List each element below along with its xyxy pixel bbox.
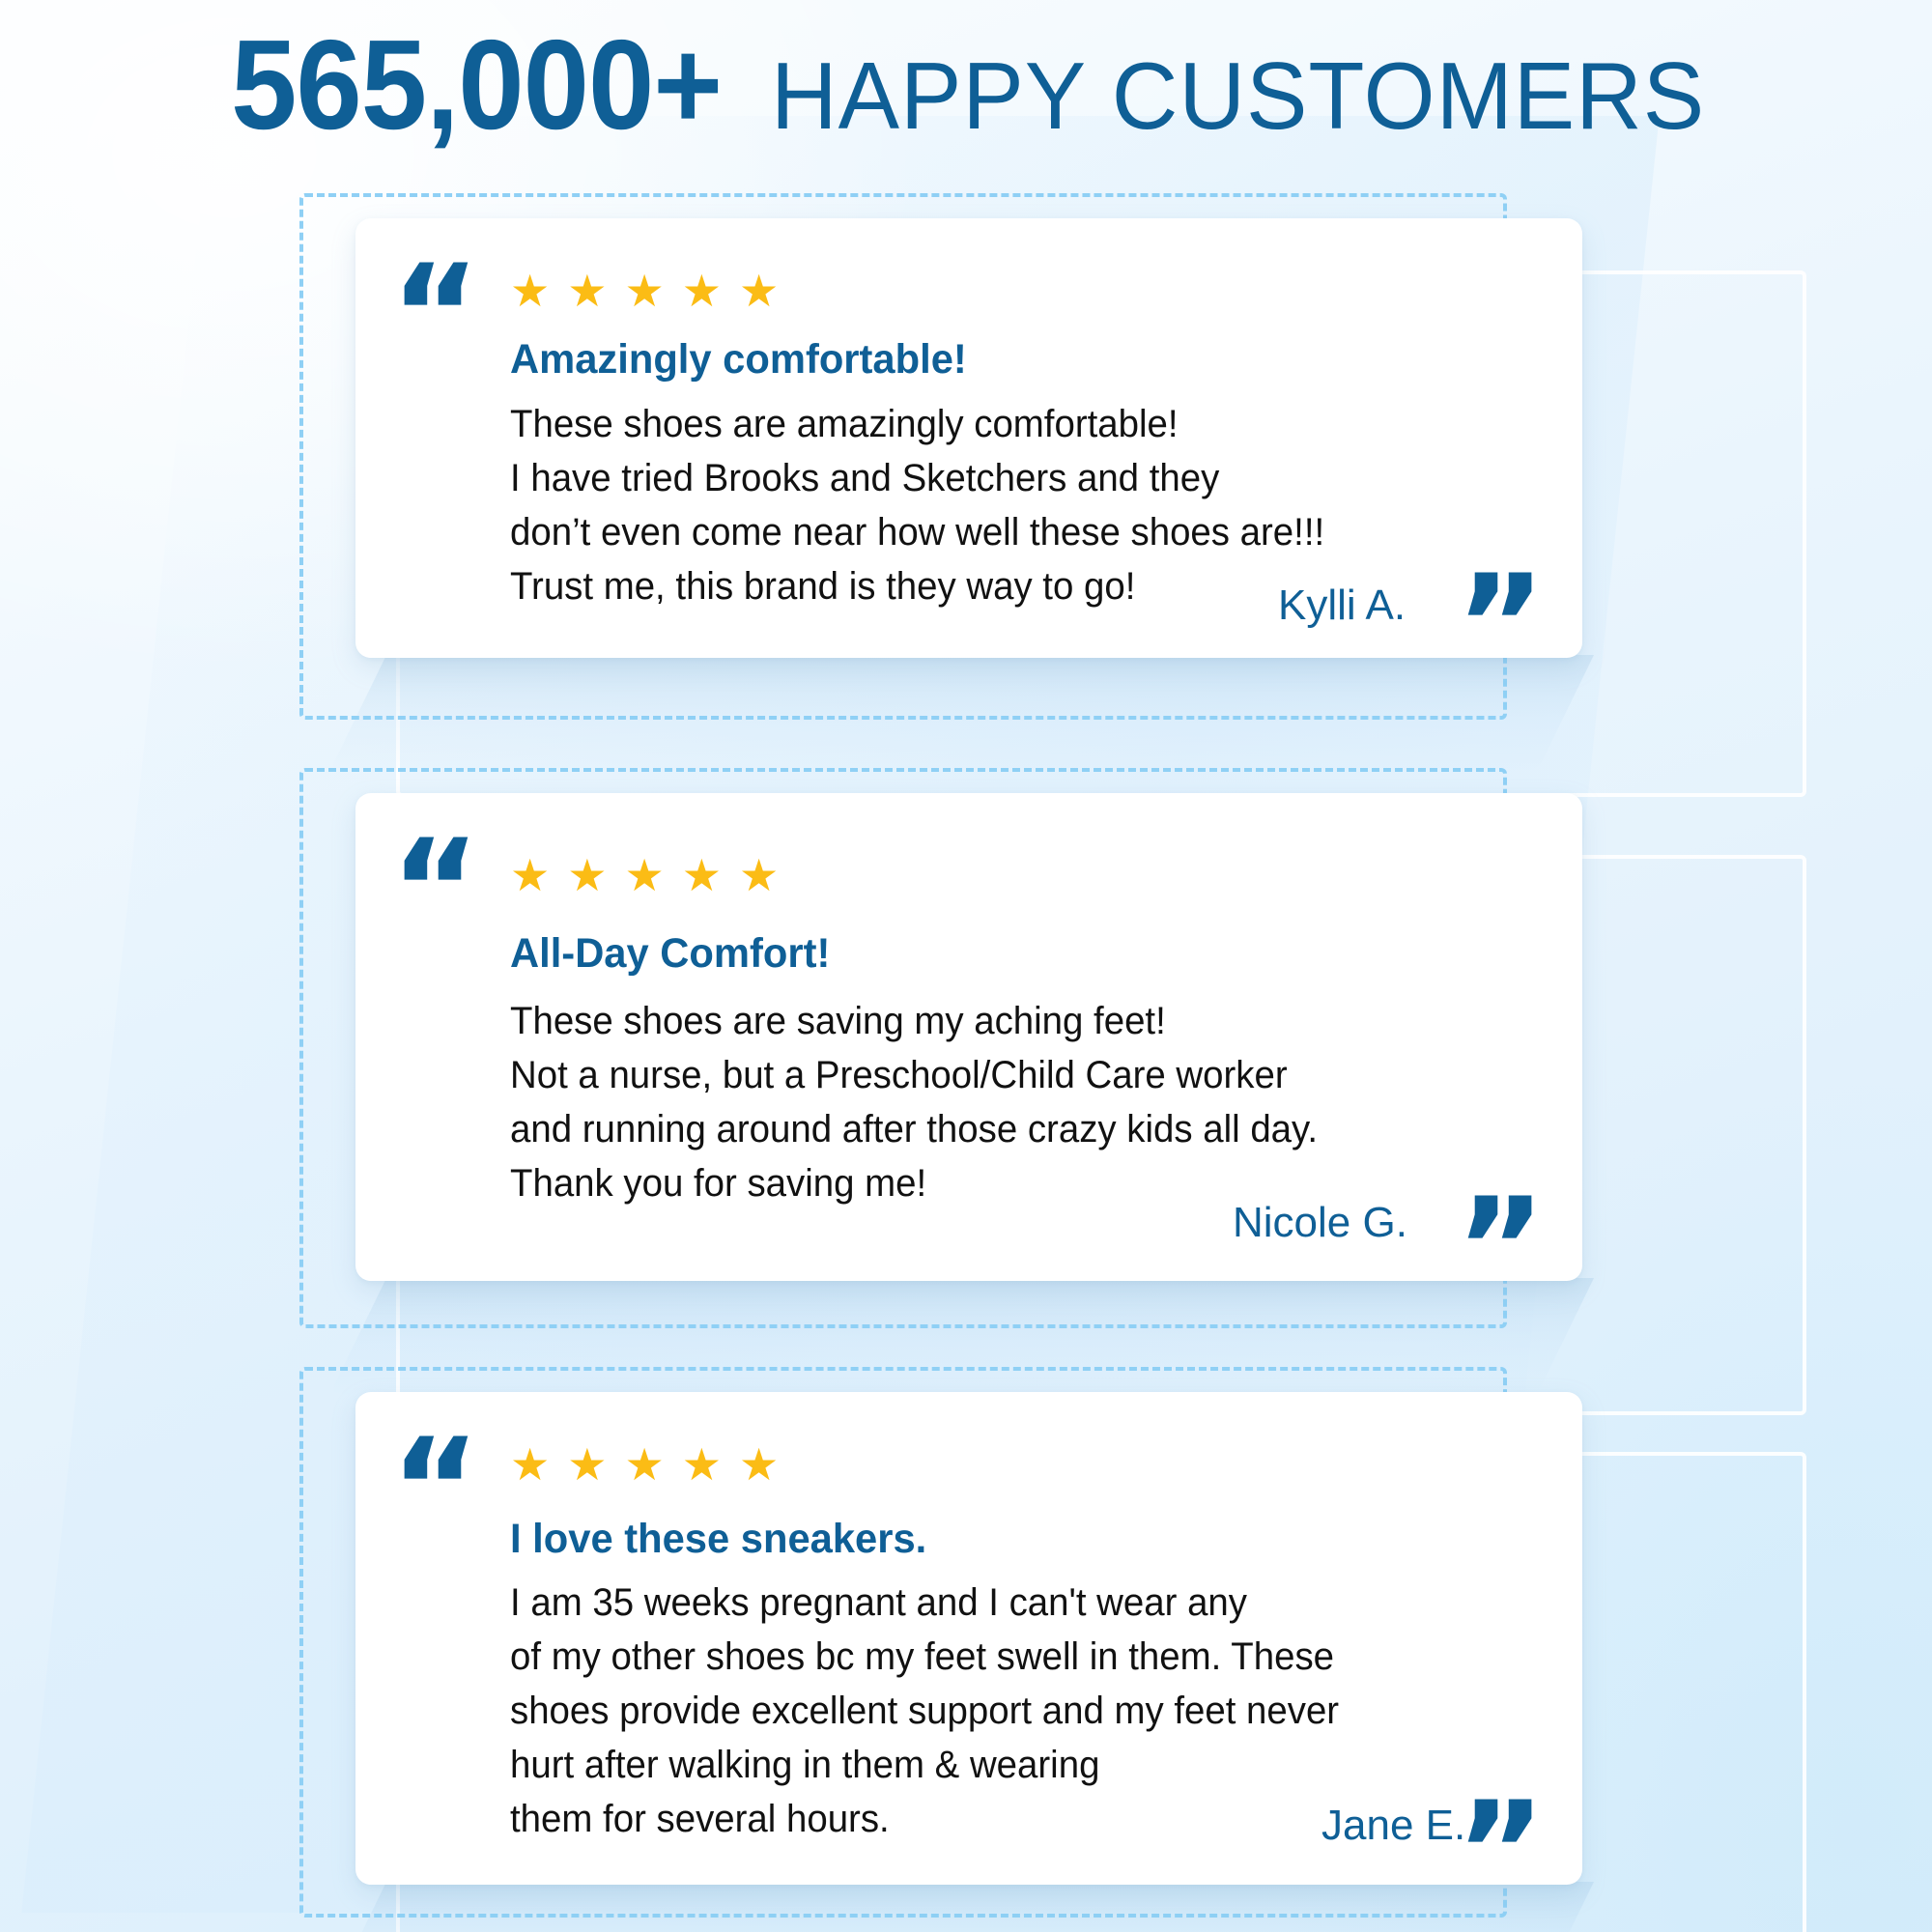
star-icon: ★ <box>682 269 722 313</box>
quote-close-icon: ” <box>1456 1180 1546 1281</box>
star-icon: ★ <box>510 269 550 313</box>
star-icon: ★ <box>510 1442 550 1487</box>
star-icon: ★ <box>567 853 607 897</box>
review-card[interactable]: “ ★ ★ ★ ★ ★ I love these sneakers. I am … <box>355 1392 1582 1885</box>
page-title: 565,000+HAPPY CUSTOMERS <box>0 21 1932 149</box>
review-author: Jane E. <box>1321 1802 1465 1850</box>
star-icon: ★ <box>739 853 779 897</box>
star-rating: ★ ★ ★ ★ ★ <box>510 853 779 897</box>
review-card-inner: “ ★ ★ ★ ★ ★ I love these sneakers. I am … <box>355 1392 1582 1885</box>
review-body: These shoes are amazingly comfortable! I… <box>510 397 1324 613</box>
quote-open-icon: “ <box>390 247 480 384</box>
customer-count: 565,000+ <box>231 21 722 149</box>
review-body: I am 35 weeks pregnant and I can't wear … <box>510 1576 1339 1846</box>
card-drop-shadow <box>329 655 1594 771</box>
review-title: Amazingly comfortable! <box>510 336 967 384</box>
star-icon: ★ <box>625 1442 665 1487</box>
quote-close-icon: ” <box>1456 1784 1546 1885</box>
review-block: “ ★ ★ ★ ★ ★ All-Day Comfort! These shoes… <box>290 768 1719 1367</box>
star-icon: ★ <box>625 269 665 313</box>
star-icon: ★ <box>510 853 550 897</box>
star-icon: ★ <box>567 269 607 313</box>
star-icon: ★ <box>567 1442 607 1487</box>
quote-close-icon: ” <box>1456 557 1546 658</box>
card-drop-shadow <box>339 1882 1594 1932</box>
review-card[interactable]: “ ★ ★ ★ ★ ★ Amazingly comfortable! These… <box>355 218 1582 658</box>
review-card[interactable]: “ ★ ★ ★ ★ ★ All-Day Comfort! These shoes… <box>355 793 1582 1281</box>
testimonials-page: 565,000+HAPPY CUSTOMERS “ ★ ★ ★ ★ ★ Amaz… <box>0 0 1932 1932</box>
review-block: “ ★ ★ ★ ★ ★ I love these sneakers. I am … <box>290 1367 1719 1932</box>
page-title-label: HAPPY CUSTOMERS <box>771 48 1705 143</box>
review-body: These shoes are saving my aching feet! N… <box>510 994 1318 1210</box>
star-icon: ★ <box>682 853 722 897</box>
review-author: Nicole G. <box>1233 1199 1407 1247</box>
quote-open-icon: “ <box>390 1421 480 1558</box>
quote-open-icon: “ <box>390 822 480 959</box>
star-rating: ★ ★ ★ ★ ★ <box>510 1442 779 1487</box>
review-title: All-Day Comfort! <box>510 930 830 978</box>
review-card-inner: “ ★ ★ ★ ★ ★ All-Day Comfort! These shoes… <box>355 793 1582 1281</box>
review-card-inner: “ ★ ★ ★ ★ ★ Amazingly comfortable! These… <box>355 218 1582 658</box>
review-author: Kylli A. <box>1278 582 1406 630</box>
star-icon: ★ <box>682 1442 722 1487</box>
star-rating: ★ ★ ★ ★ ★ <box>510 269 779 313</box>
star-icon: ★ <box>625 853 665 897</box>
star-icon: ★ <box>739 1442 779 1487</box>
review-title: I love these sneakers. <box>510 1516 926 1563</box>
star-icon: ★ <box>739 269 779 313</box>
review-block: “ ★ ★ ★ ★ ★ Amazingly comfortable! These… <box>290 193 1719 734</box>
